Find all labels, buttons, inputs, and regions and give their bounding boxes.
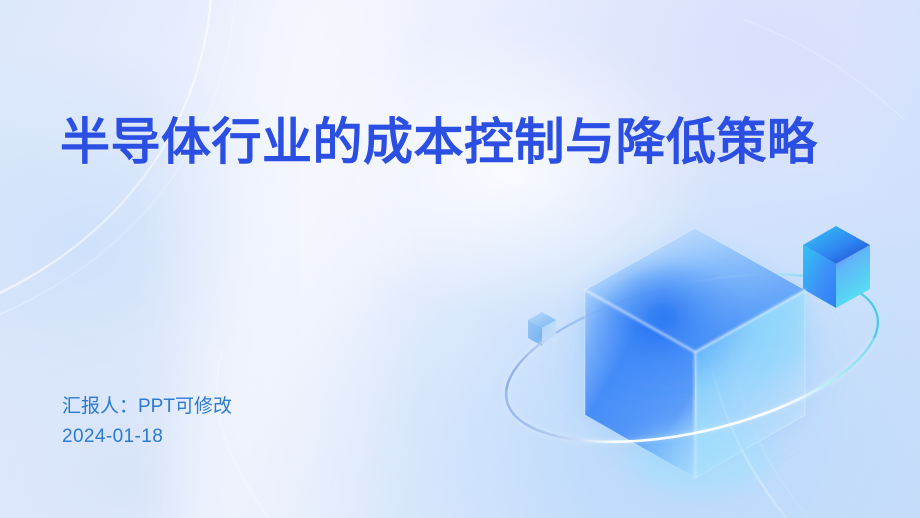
slide-canvas: 半导体行业的成本控制与降低策略 汇报人：PPT可修改 2024-01-18 (0, 0, 920, 518)
page-title: 半导体行业的成本控制与降低策略 (60, 112, 860, 172)
cube-illustration (470, 190, 920, 518)
presenter-line: 汇报人：PPT可修改 (62, 392, 232, 422)
cube-graphic-svg (470, 190, 920, 518)
slide-meta: 汇报人：PPT可修改 2024-01-18 (62, 392, 232, 452)
date-line: 2024-01-18 (62, 422, 232, 452)
